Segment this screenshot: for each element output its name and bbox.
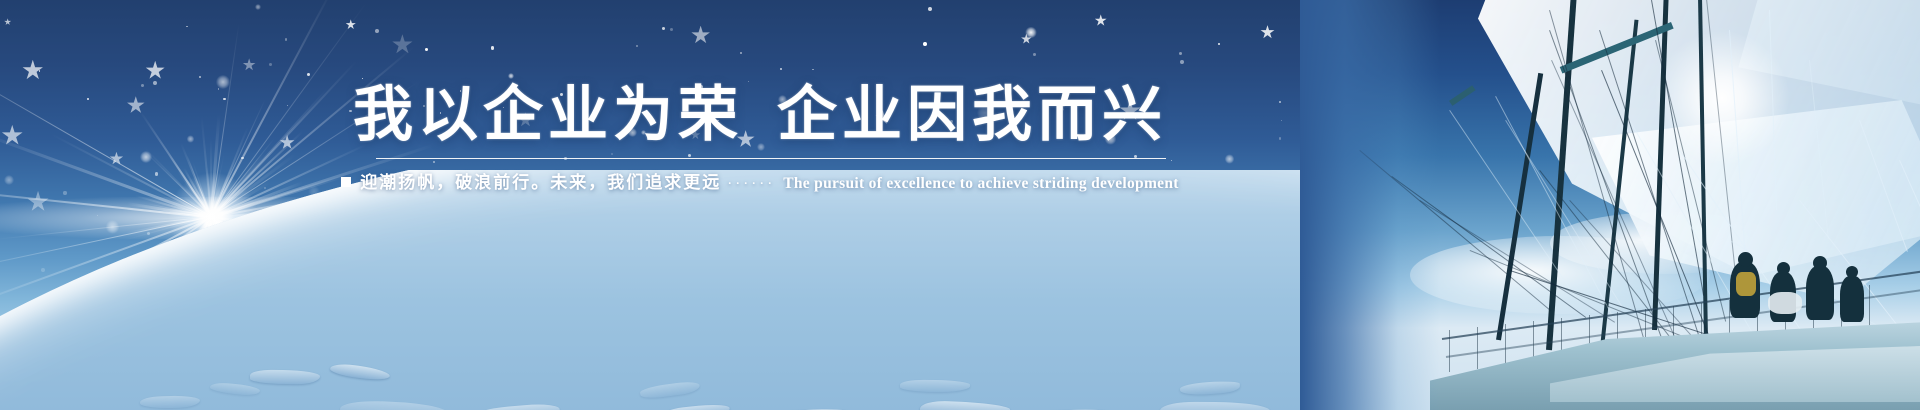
subtitle-row: 迎潮扬帆，破浪前行。未来，我们追求更远 ······ The pursuit o… — [340, 168, 1180, 193]
headline-part-2: 企业因我而兴 — [777, 82, 1167, 148]
subtitle-dots: ······ — [727, 176, 775, 193]
square-bullet-icon — [341, 177, 351, 187]
corporate-banner: 我以企业为荣企业因我而兴 迎潮扬帆，破浪前行。未来，我们追求更远 ······ … — [0, 0, 1920, 410]
headline: 我以企业为荣企业因我而兴 — [340, 84, 1180, 148]
headline-part-1: 我以企业为荣 — [353, 82, 743, 148]
divider-rule — [376, 158, 1166, 159]
subtitle-english: The pursuit of excellence to achieve str… — [783, 175, 1179, 193]
banner-text-content: 我以企业为荣企业因我而兴 迎潮扬帆，破浪前行。未来，我们追求更远 ······ … — [0, 0, 1920, 410]
subtitle-chinese: 迎潮扬帆，破浪前行。未来，我们追求更远 — [360, 168, 721, 193]
